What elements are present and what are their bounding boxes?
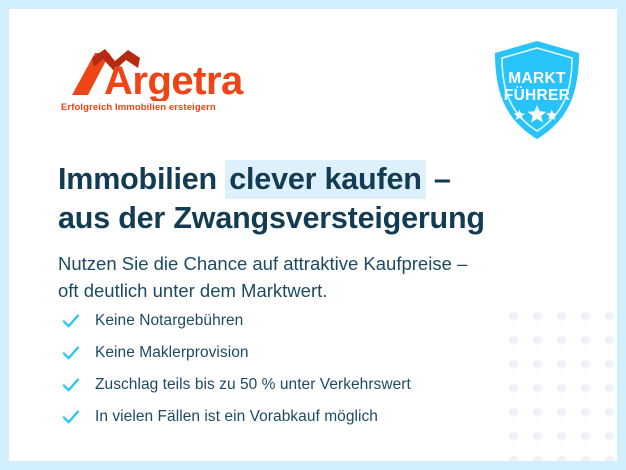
feature-item-label: Keine Maklerprovision: [95, 344, 249, 362]
dot-grid-dot: [605, 456, 614, 465]
dot-grid-dot: [605, 384, 614, 393]
logo-mark-row: Argetra: [58, 47, 278, 101]
argetra-logo[interactable]: Argetra Erfolgreich Immobilien ersteiger…: [58, 47, 278, 101]
feature-item-label: Zuschlag teils bis zu 50 % unter Verkehr…: [95, 376, 411, 394]
subheadline: Nutzen Sie die Chance auf attraktive Kau…: [58, 250, 578, 306]
badge-line2: FÜHRER: [504, 87, 570, 104]
feature-item-label: Keine Notargebühren: [95, 312, 243, 330]
dot-grid-dot: [605, 360, 614, 369]
dot-grid-dot: [581, 360, 590, 369]
argetra-logomark-icon: Argetra: [58, 47, 278, 101]
headline: Immobilien clever kaufen – aus der Zwang…: [58, 160, 578, 238]
dot-grid-dot: [605, 432, 614, 441]
logo-tagline: Erfolgreich Immobilien ersteigern: [61, 102, 216, 113]
dot-grid-dot: [581, 432, 590, 441]
subheadline-line-1: Nutzen Sie die Chance auf attraktive Kau…: [58, 250, 578, 278]
check-icon: [61, 311, 81, 331]
dot-grid-dot: [581, 456, 590, 465]
check-icon: [61, 407, 81, 427]
dot-grid-dot: [581, 336, 590, 345]
dot-grid-dot: [605, 336, 614, 345]
feature-item: Keine Notargebühren: [61, 305, 541, 336]
feature-item-label: In vielen Fällen ist ein Vorabkauf mögli…: [95, 408, 378, 426]
check-icon: [61, 375, 81, 395]
dot-grid-dot: [557, 432, 566, 441]
dot-grid-dot: [557, 312, 566, 321]
dot-grid-dot: [533, 432, 542, 441]
market-leader-badge: MARKT FÜHRER: [489, 39, 585, 144]
check-icon: [61, 343, 81, 363]
dot-grid-dot: [581, 408, 590, 417]
headline-text-after: –: [426, 162, 451, 196]
headline-highlight: clever kaufen: [225, 160, 425, 199]
dot-grid-dot: [557, 384, 566, 393]
dot-grid-dot: [581, 384, 590, 393]
feature-item: Keine Maklerprovision: [61, 337, 541, 368]
badge-line1: MARKT: [508, 70, 566, 87]
headline-line-1: Immobilien clever kaufen –: [58, 160, 578, 199]
dot-grid-dot: [557, 360, 566, 369]
headline-text-before: Immobilien: [58, 162, 225, 196]
promo-banner: Argetra Erfolgreich Immobilien ersteiger…: [0, 0, 626, 470]
headline-line-2: aus der Zwangsversteigerung: [58, 199, 578, 238]
feature-list: Keine NotargebührenKeine Maklerprovision…: [61, 305, 541, 433]
dot-grid-dot: [557, 336, 566, 345]
dot-grid-dot: [557, 408, 566, 417]
dot-grid-dot: [605, 312, 614, 321]
shield-badge-icon: MARKT FÜHRER: [489, 39, 585, 144]
dot-grid-dot: [605, 408, 614, 417]
feature-item: Zuschlag teils bis zu 50 % unter Verkehr…: [61, 369, 541, 400]
feature-item: In vielen Fällen ist ein Vorabkauf mögli…: [61, 401, 541, 432]
dot-grid-dot: [509, 456, 518, 465]
dot-grid-dot: [509, 432, 518, 441]
dot-grid-dot: [557, 456, 566, 465]
dot-grid-dot: [533, 456, 542, 465]
subheadline-line-2: oft deutlich unter dem Marktwert.: [58, 277, 578, 305]
dot-grid-dot: [581, 312, 590, 321]
svg-text:Argetra: Argetra: [104, 59, 244, 101]
